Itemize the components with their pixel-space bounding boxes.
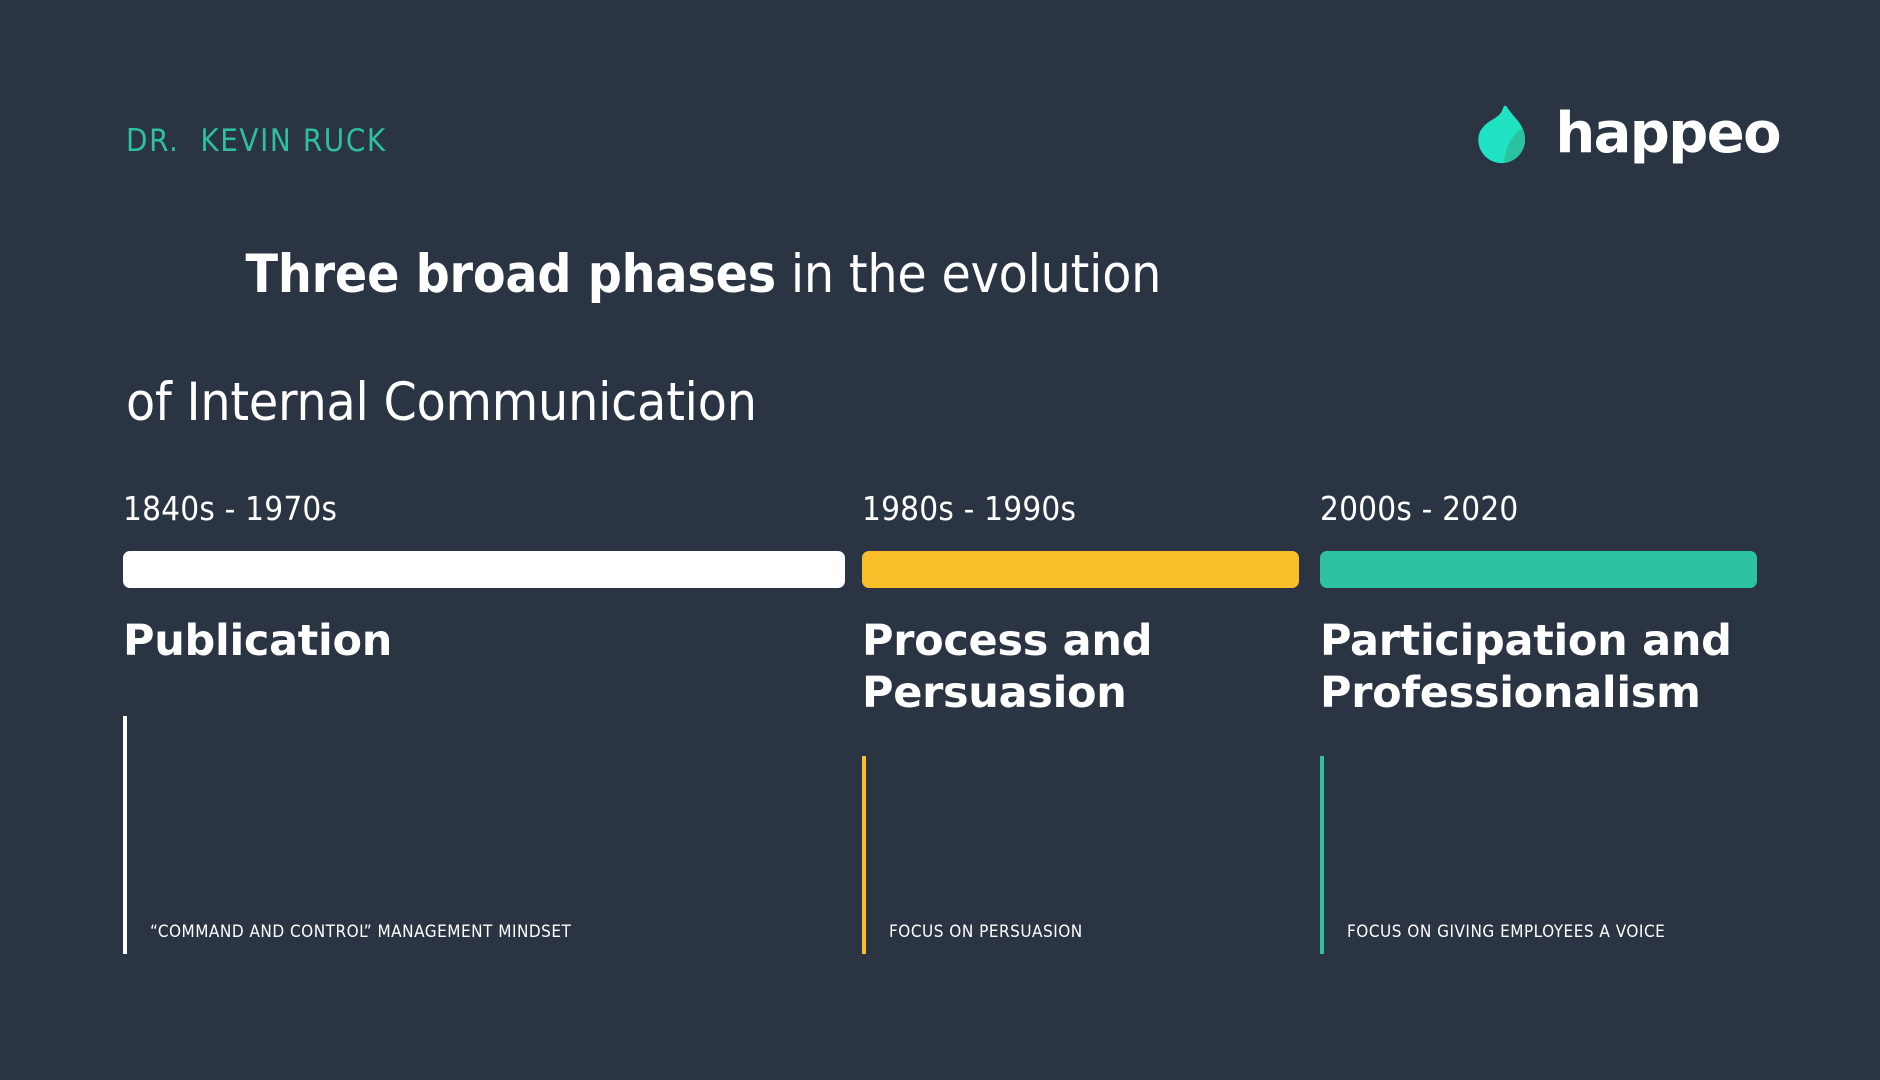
page-title-emphasis: Three broad phases — [246, 244, 776, 305]
page-title-line2: of Internal Communication — [126, 371, 1226, 435]
timeline-footnote: “COMMAND AND CONTROL” MANAGEMENT MINDSET — [123, 716, 845, 954]
phase-title-line: Publication — [123, 615, 845, 667]
timeline-vertical-rule — [1320, 756, 1324, 954]
phase-title-line: Persuasion — [862, 667, 1299, 719]
brand-wordmark: happeo — [1555, 106, 1780, 162]
phase-title-line: Participation and — [1320, 615, 1757, 667]
phase-title: Process and Persuasion — [862, 615, 1299, 720]
timeline-bar — [862, 551, 1299, 588]
timeline-vertical-rule — [862, 756, 866, 954]
timeline: 1840s - 1970s Publication “COMMAND AND C… — [0, 492, 1880, 972]
timeline-period-label: 1840s - 1970s — [123, 492, 845, 525]
timeline-vertical-rule — [123, 716, 127, 954]
phase-title: Publication — [123, 615, 845, 667]
happeo-leaf-icon — [1475, 103, 1537, 165]
timeline-period-label: 2000s - 2020 — [1320, 492, 1757, 525]
timeline-footnote: FOCUS ON GIVING EMPLOYEES A VOICE — [1320, 756, 1757, 954]
brand-logo: happeo — [1475, 103, 1780, 165]
timeline-caption: “COMMAND AND CONTROL” MANAGEMENT MINDSET — [150, 922, 571, 942]
timeline-caption: FOCUS ON PERSUASION — [889, 922, 1083, 942]
timeline-column-process-and-persuasion: 1980s - 1990s Process and Persuasion FOC… — [862, 492, 1299, 954]
timeline-period-label: 1980s - 1990s — [862, 492, 1299, 525]
slide-canvas: DR. KEVIN RUCK Three broad phases in the… — [0, 0, 1880, 1080]
phase-title-line: Professionalism — [1320, 667, 1757, 719]
page-title: Three broad phases in the evolution of I… — [126, 179, 1226, 436]
header-block: DR. KEVIN RUCK Three broad phases in the… — [126, 124, 1226, 436]
author-eyebrow: DR. KEVIN RUCK — [126, 124, 1226, 158]
phase-title-line: Process and — [862, 615, 1299, 667]
phase-title: Participation and Professionalism — [1320, 615, 1757, 720]
timeline-footnote: FOCUS ON PERSUASION — [862, 756, 1299, 954]
timeline-column-participation-and-professionalism: 2000s - 2020 Participation and Professio… — [1320, 492, 1757, 954]
timeline-bar — [1320, 551, 1757, 588]
timeline-column-publication: 1840s - 1970s Publication “COMMAND AND C… — [123, 492, 845, 954]
timeline-bar — [123, 551, 845, 588]
page-title-line1-rest: in the evolution — [776, 244, 1161, 305]
timeline-caption: FOCUS ON GIVING EMPLOYEES A VOICE — [1347, 922, 1665, 942]
